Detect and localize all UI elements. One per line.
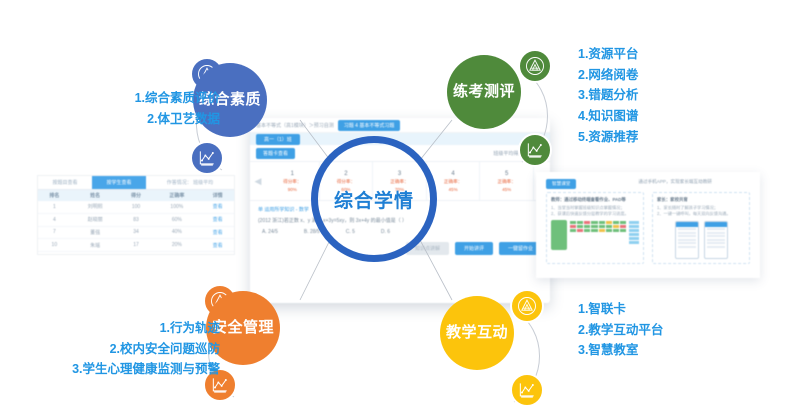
question-metric-value: 90% — [288, 187, 297, 192]
cell-name: 刘明熙 — [71, 201, 120, 213]
table-meta: 作答情况： 班级平均 — [146, 176, 234, 189]
question-metric-value: 45% — [448, 187, 457, 192]
table-row: 4 赵晓丽 83 60% 查看 — [38, 213, 234, 226]
col-name: 姓名 — [71, 190, 120, 201]
cell-name: 董强 — [71, 226, 120, 239]
list-bottom-left: 1.行为轨迹 2.校内安全问题巡防 3.学生心理健康监测与预警 — [20, 318, 220, 380]
cell-detail-link[interactable]: 查看 — [201, 213, 234, 226]
right-shot-header: 智慧课堂 通过手机APP，实现家长端互动教研 — [536, 172, 760, 192]
cell-accuracy: 40% — [152, 226, 201, 239]
question-number: 1 — [291, 171, 294, 177]
list-bottom-right: 1.智联卡 2.教学互动平台 3.智慧教室 — [578, 299, 663, 361]
question-number: 5 — [505, 171, 508, 177]
list-item: 3.错题分析 — [578, 85, 638, 106]
topic-label: 练考测评 — [453, 83, 515, 100]
tab-by-student[interactable]: 按学生查看 — [92, 176, 146, 189]
progress-column — [551, 220, 567, 250]
col-detail: 详情 — [201, 190, 234, 201]
option-a[interactable]: A. 24/5 — [262, 229, 278, 235]
smart-classroom-note: 通过手机APP，实现家长端互动教研 — [638, 179, 712, 189]
center-label: 综合学情 — [334, 186, 414, 213]
question-metric-label: 正确率： — [497, 179, 515, 185]
cell-detail-link[interactable]: 查看 — [201, 239, 234, 252]
list-item: 5.资源推荐 — [578, 127, 638, 148]
chart-icon-bubble-zhsz[interactable] — [190, 141, 224, 175]
list-item: 1.智联卡 — [578, 299, 663, 320]
start-review-button[interactable]: 开始讲评 — [455, 242, 493, 255]
col-accuracy: 正确率 — [152, 190, 201, 201]
cell-accuracy: 20% — [152, 239, 201, 252]
cell-accuracy: 100% — [152, 201, 201, 213]
question-number: 4 — [451, 171, 454, 177]
student-score-table-screenshot: 按题目查看 按学生查看 作答情况： 班级平均 排名 姓名 得分 正确率 详情 1… — [38, 176, 234, 254]
mountain-triangle-icon — [525, 56, 545, 76]
teacher-card-title: 教师：通过移动终端查看作业、PAD等 — [551, 197, 639, 203]
table-row: 1 刘明熙 100 100% 查看 — [38, 201, 234, 213]
question-metric-label: 得分率： — [283, 179, 301, 185]
list-top-left: 1.综合素质评价 2.体卫艺数据 — [60, 88, 220, 129]
question-metric-label: 正确率： — [444, 179, 462, 185]
student-status-grid — [570, 221, 626, 232]
class-select-button[interactable]: 高一（1）班 — [256, 134, 300, 145]
breadcrumb-path: 基本不等式（高1模块）＞预习自测 — [256, 122, 334, 129]
answer-sheet-button[interactable]: 答题卡查看 — [256, 148, 295, 159]
triangle-icon-bubble-lkcp[interactable] — [518, 49, 552, 83]
triangle-icon-bubble-jxhd[interactable] — [510, 289, 544, 323]
teacher-card: 教师：通过移动终端查看作业、PAD等 1、当堂当时掌握班级知识点掌握情况； 2、… — [546, 192, 644, 264]
question-cell[interactable]: 5 正确率： 45% — [480, 162, 534, 200]
cell-rank: 10 — [38, 239, 71, 252]
cell-rank: 4 — [38, 213, 71, 226]
center-circle-comprehensive-learning[interactable]: 综合学情 — [311, 136, 437, 262]
infographic-canvas: 按题目查看 按学生查看 作答情况： 班级平均 排名 姓名 得分 正确率 详情 1… — [0, 0, 789, 418]
cell-rank: 1 — [38, 201, 71, 213]
tab-by-question[interactable]: 按题目查看 — [38, 176, 92, 189]
parent-card-line-2: 2、一键一键呼叫，每天双向反馈沟通。 — [657, 211, 745, 217]
mountain-triangle-icon — [517, 296, 537, 316]
cell-name: 朱瑶 — [71, 239, 120, 252]
option-b[interactable]: B. 28/5 — [304, 229, 320, 235]
line-chart-icon — [517, 380, 537, 400]
table-row: 7 董强 34 40% 查看 — [38, 226, 234, 239]
table-header-row: 排名 姓名 得分 正确率 详情 — [38, 190, 234, 201]
line-chart-icon — [197, 148, 217, 168]
phone-mockup — [675, 221, 699, 259]
question-metric-value: 45% — [502, 187, 511, 192]
col-score: 得分 — [120, 190, 153, 201]
list-item: 2.体卫艺数据 — [60, 109, 220, 130]
list-item: 1.综合素质评价 — [60, 88, 220, 109]
prev-arrow-icon[interactable]: ◀ — [250, 162, 266, 200]
cell-score: 100 — [120, 201, 153, 213]
smart-classroom-screenshot: 智慧课堂 通过手机APP，实现家长端互动教研 教师：通过移动终端查看作业、PAD… — [536, 172, 760, 278]
breadcrumb-current[interactable]: 习题 4 基本不等式习题 — [338, 120, 401, 131]
smart-classroom-tag: 智慧课堂 — [546, 179, 576, 189]
table-tabs: 按题目查看 按学生查看 作答情况： 班级平均 — [38, 176, 234, 190]
phone-mockups — [657, 221, 745, 259]
parent-card-title: 家长：家校共育 — [657, 197, 745, 203]
teacher-card-line-2: 2、获课后快速反馈分层教学的学习进度。 — [551, 211, 639, 217]
legend-grid — [629, 221, 639, 244]
cell-rank: 7 — [38, 226, 71, 239]
chart-icon-bubble-lkcp[interactable] — [518, 133, 552, 167]
list-top-right: 1.资源平台 2.网络阅卷 3.错题分析 4.知识图谱 5.资源推荐 — [578, 44, 638, 147]
list-item: 3.智慧教室 — [578, 340, 663, 361]
list-item: 2.网络阅卷 — [578, 65, 638, 86]
topic-circle-teaching-interaction[interactable]: 教学互动 — [440, 296, 514, 370]
cell-score: 17 — [120, 239, 153, 252]
line-chart-icon — [525, 140, 545, 160]
col-rank: 排名 — [38, 190, 71, 201]
right-shot-cards: 教师：通过移动终端查看作业、PAD等 1、当堂当时掌握班级知识点掌握情况； 2、… — [536, 192, 760, 264]
topic-label: 安全管理 — [212, 319, 274, 336]
list-item: 3.学生心理健康监测与预警 — [20, 359, 220, 380]
score-table: 排名 姓名 得分 正确率 详情 1 刘明熙 100 100% 查看 4 赵晓丽 … — [38, 190, 234, 252]
cell-name: 赵晓丽 — [71, 213, 120, 226]
list-item: 2.教学互动平台 — [578, 320, 663, 341]
table-row: 10 朱瑶 17 20% 查看 — [38, 239, 234, 252]
topic-label: 教学互动 — [446, 324, 508, 341]
cell-accuracy: 60% — [152, 213, 201, 226]
list-item: 1.行为轨迹 — [20, 318, 220, 339]
cell-detail-link[interactable]: 查看 — [201, 226, 234, 239]
chart-icon-bubble-jxhd[interactable] — [510, 373, 544, 407]
list-item: 1.资源平台 — [578, 44, 638, 65]
list-item: 2.校内安全问题巡防 — [20, 339, 220, 360]
topic-circle-practice-exam-assessment[interactable]: 练考测评 — [447, 55, 521, 129]
list-item: 4.知识图谱 — [578, 106, 638, 127]
parent-card: 家长：家校共育 1、家长随时了解孩子学习情况； 2、一键一键呼叫，每天双向反馈沟… — [652, 192, 750, 264]
cell-score: 34 — [120, 226, 153, 239]
cell-detail-link[interactable]: 查看 — [201, 201, 234, 213]
cell-score: 83 — [120, 213, 153, 226]
phone-mockup — [704, 221, 728, 259]
